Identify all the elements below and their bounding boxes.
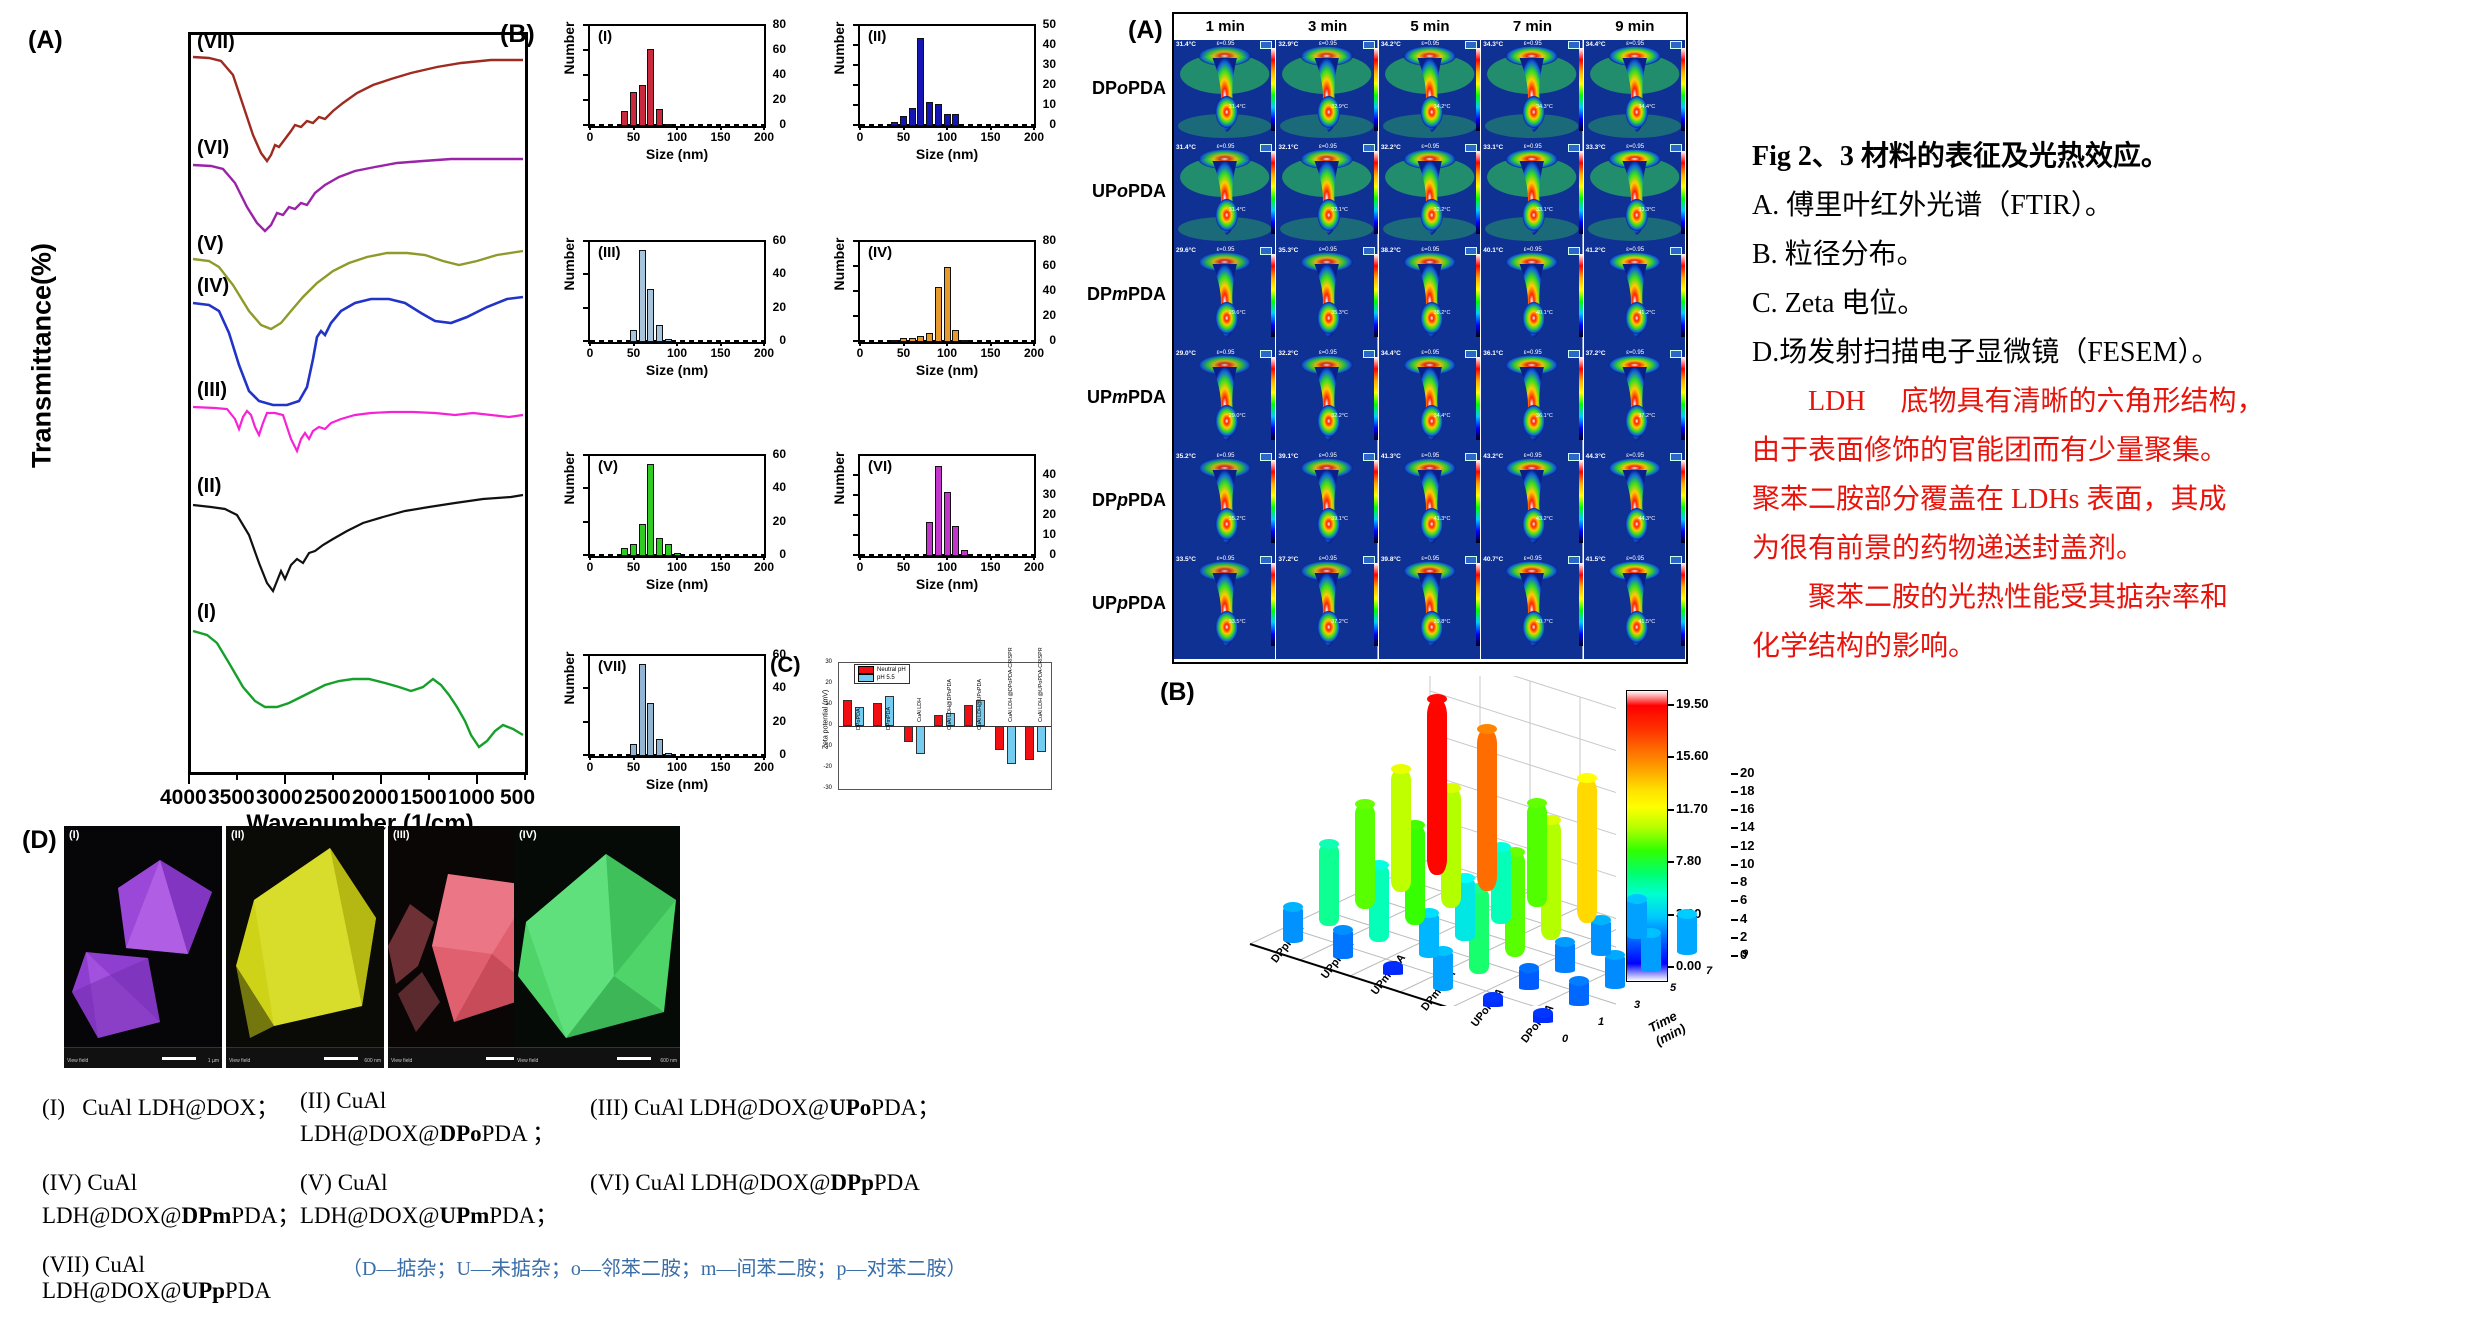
hist-xtick: 100 [667, 130, 687, 144]
thermal-spot-reading: 39.1°C [1331, 516, 1348, 522]
hist-x-axis-label: Size (nm) [588, 146, 766, 162]
b3d-ztick-mark [1731, 791, 1738, 793]
thermal-scale-strip [1271, 563, 1275, 646]
hist-x-axis-label: Size (nm) [588, 576, 766, 592]
hist-bar [909, 338, 916, 342]
thermal-max-temp: 36.1°C [1483, 350, 1503, 357]
thermal-scale-strip [1681, 563, 1685, 646]
thermal-cell: 32.2°Cε=0.9532.2°C [1379, 143, 1481, 247]
thermal-col-3min: 3 min [1276, 14, 1378, 40]
hist-xtick: 50 [627, 760, 640, 774]
b3d-cylinder-bar [1355, 804, 1375, 910]
hist-bar [926, 333, 933, 342]
legend-bold-vi: DPp [830, 1170, 873, 1195]
thermal-spot-reading: 34.4°C [1434, 413, 1451, 419]
thermal-emissivity: ε=0.95 [1217, 556, 1235, 562]
hist-xtick-mark [589, 342, 591, 346]
thermal-ir-image [1379, 452, 1480, 556]
hist-bars [590, 26, 764, 126]
thermal-max-temp: 31.4°C [1176, 144, 1196, 151]
thermal-panel-tag: (A) [1128, 16, 1163, 45]
thermal-scale-strip [1374, 254, 1378, 337]
legend-item-i: (I) CuAl LDH@DOX； [42, 1088, 300, 1148]
thermal-cell: 34.3°Cε=0.9534.3°C [1481, 40, 1583, 144]
hist-xtick-mark [633, 126, 635, 130]
hist-ytick-mark [853, 514, 858, 516]
b3d-cylinder-bar [1555, 942, 1575, 974]
thermal-max-temp: 37.2°C [1586, 350, 1606, 357]
thermal-emissivity: ε=0.95 [1217, 350, 1235, 356]
fesem-scalebar-i: View field 1 µm [64, 1047, 222, 1068]
fesem-meta-iv: View field [517, 1058, 538, 1064]
b3d-cylinder-bar [1677, 914, 1697, 956]
thermal-scale-strip [1271, 357, 1275, 440]
hist-bar [935, 466, 942, 556]
hist-bar [630, 92, 637, 126]
hist-ytick-mark [583, 454, 588, 456]
thermal-scale-strip [1271, 254, 1275, 337]
thermal-cell: 41.5°Cε=0.9541.5°C [1584, 555, 1686, 659]
b3d-cylinder-bar [1283, 907, 1303, 943]
thermal-row: 33.5°Cε=0.9533.5°C37.2°Cε=0.9537.2°C39.8… [1174, 555, 1686, 659]
fesem-scale-i: 1 µm [208, 1058, 219, 1064]
hist-ytick-mark [583, 24, 588, 26]
zeta-ytick: -10 [810, 743, 832, 749]
hist-ytick-mark [853, 104, 858, 106]
thermal-emissivity: ε=0.95 [1217, 247, 1235, 253]
b3d-ztick: 8 [1740, 874, 1747, 889]
panel-c-tag: (C) [770, 652, 801, 678]
hist-xtick: 150 [710, 130, 730, 144]
panel-b-photothermal-3d: (B) 02468101214161820DPpPDAUPpPDAUPmPDAD… [1160, 666, 1700, 1056]
hist-bar [674, 553, 681, 556]
hist-ytick-mark [583, 273, 588, 275]
b3d-ztick-mark [1731, 882, 1738, 884]
thermal-cell: 32.1°Cε=0.9532.1°C [1276, 143, 1378, 247]
ftir-xtick-2500: 2500 [304, 786, 351, 810]
hist-xtick-mark [903, 342, 905, 346]
legend-bold-iv: DPm [181, 1203, 231, 1228]
hist-xtick: 0 [857, 130, 864, 144]
thermal-max-temp: 38.2°C [1381, 247, 1401, 254]
legend-bold-vii: UPp [181, 1278, 224, 1303]
hist-xtick-mark [633, 556, 635, 560]
hist-xtick: 0 [587, 130, 594, 144]
hist-ytick-mark [853, 240, 858, 242]
thermal-cell: 35.2°Cε=0.9535.2°C [1174, 452, 1276, 556]
hist-bars [860, 242, 1034, 342]
hist-bar [891, 122, 898, 126]
hist-x-axis-label: Size (nm) [588, 362, 766, 378]
b3d-cylinder-bar [1627, 899, 1647, 939]
b3d-cylinder-bar [1527, 803, 1547, 908]
fesem-image-i: (I) View field 1 µm [64, 826, 222, 1068]
b3d-time-tick: 3 [1634, 999, 1640, 1011]
hist-ytick-mark [853, 265, 858, 267]
hist-xtick-mark [946, 126, 948, 130]
colorbar-tick-mark [1667, 756, 1674, 758]
thermal-column-headers: 1 min 3 min 5 min 7 min 9 min [1174, 14, 1686, 40]
thermal-ir-image [1481, 452, 1582, 556]
hist-bar [656, 538, 663, 556]
thermal-cell: 29.6°Cε=0.9529.6°C [1174, 246, 1276, 350]
ftir-xtick-2000: 2000 [352, 786, 399, 810]
thermal-cell: 35.3°Cε=0.9535.3°C [1276, 246, 1378, 350]
thermal-max-temp: 29.0°C [1176, 350, 1196, 357]
thermal-ir-image [1584, 246, 1685, 350]
thermal-max-temp: 44.3°C [1586, 453, 1606, 460]
hist-y-axis-label: Number [561, 3, 577, 93]
legend-base-iii: CuAl LDH@DOX@ [634, 1095, 829, 1120]
thermal-scale-strip [1476, 254, 1480, 337]
legend-abbrev-note: （D—掂杂；U—未掂杂；o—邻苯二胺；m—间苯二胺；p—对苯二胺） [342, 1252, 966, 1304]
hist-xtick: 200 [754, 560, 774, 574]
legend-num-ii: (II) [300, 1088, 331, 1113]
thermal-max-temp: 31.4°C [1176, 41, 1196, 48]
thermal-cell: 31.4°Cε=0.9531.4°C [1174, 143, 1276, 247]
thermal-max-temp: 43.2°C [1483, 453, 1503, 460]
thermal-emissivity: ε=0.95 [1626, 556, 1644, 562]
thermal-spot-reading: 41.5°C [1638, 619, 1655, 625]
hist-x-axis-label: Size (nm) [588, 776, 766, 792]
hist-bar [952, 114, 959, 126]
zeta-category-label: CuAl LDH [917, 698, 923, 722]
fesem-label-i: (I) [69, 829, 79, 841]
thermal-scale-strip [1271, 151, 1275, 234]
thermal-col-5min: 5 min [1379, 14, 1481, 40]
hist-ytick-mark [583, 49, 588, 51]
hist-xtick-mark [903, 126, 905, 130]
thermal-cell: 31.4°Cε=0.9531.4°C [1174, 40, 1276, 144]
ftir-plot-area: (VII) (VI) (V) (IV) (III) (II) (I) [188, 32, 528, 772]
hist-xtick-mark [903, 556, 905, 560]
thermal-spot-reading: 36.1°C [1536, 413, 1553, 419]
hist-xtick: 0 [857, 346, 864, 360]
zeta-bar [1037, 726, 1046, 752]
thermal-cell: 37.2°Cε=0.9537.2°C [1276, 555, 1378, 659]
zeta-ytick: 20 [810, 680, 832, 686]
thermal-cell: 34.4°Cε=0.9534.4°C [1379, 349, 1481, 453]
hist-ytick-mark [853, 554, 858, 556]
ftir-xtick-1000: 1000 [448, 786, 495, 810]
thermal-ir-image [1174, 143, 1275, 247]
thermal-emissivity: ε=0.95 [1421, 144, 1439, 150]
hist-bar [900, 116, 907, 126]
hist-bars [590, 456, 764, 556]
hist-xtick-mark [589, 556, 591, 560]
hist-bar [909, 108, 916, 126]
commentary-red-2b: 化学结构的影响。 [1752, 622, 2452, 671]
thermal-scale-strip [1476, 460, 1480, 543]
hist-xtick-mark [1033, 556, 1035, 560]
thermal-max-temp: 41.3°C [1381, 453, 1401, 460]
hist-ytick-mark [853, 24, 858, 26]
thermal-cell: 39.8°Cε=0.9539.8°C [1379, 555, 1481, 659]
hist-y-axis-label: Number [561, 219, 577, 309]
ftir-xtick-4000: 4000 [160, 786, 207, 810]
thermal-row-label: UPoPDA [1092, 181, 1166, 202]
hist-bar [917, 336, 924, 342]
thermal-max-temp: 32.2°C [1381, 144, 1401, 151]
hist-xtick-mark [859, 342, 861, 346]
hist-xtick: 100 [667, 560, 687, 574]
zeta-legend-neutral: Neutral pH [877, 666, 906, 674]
hist-xtick: 50 [627, 346, 640, 360]
thermal-cell: 34.4°Cε=0.9534.4°C [1584, 40, 1686, 144]
hist-xtick: 0 [587, 560, 594, 574]
hist-xtick-mark [990, 126, 992, 130]
thermal-cell: 38.2°Cε=0.9538.2°C [1379, 246, 1481, 350]
thermal-spot-reading: 43.2°C [1536, 516, 1553, 522]
thermal-scale-strip [1579, 357, 1583, 440]
thermal-ir-image [1379, 40, 1480, 144]
b3d-cylinder-bar [1391, 769, 1411, 892]
hist-ytick-mark [583, 654, 588, 656]
hist-ytick-mark [853, 84, 858, 86]
hist-xtick-mark [589, 126, 591, 130]
hist-bar [944, 114, 951, 126]
thermal-scale-strip [1579, 254, 1583, 337]
panel-a-tag: (A) [28, 26, 63, 55]
ftir-y-axis-label: Transmittance(%) [27, 206, 58, 506]
hist-ytick-mark [853, 534, 858, 536]
thermal-ir-image [1174, 40, 1275, 144]
legend-row-1: (I) CuAl LDH@DOX； (II) CuAl LDH@DOX@DPoP… [42, 1088, 1512, 1148]
zeta-bar [1025, 726, 1034, 760]
hist-xtick: 50 [627, 130, 640, 144]
fesem-scalebar-ii: View field 600 nm [226, 1047, 384, 1068]
thermal-cell: 33.5°Cε=0.9533.5°C [1174, 555, 1276, 659]
thermal-spot-reading: 37.2°C [1331, 619, 1348, 625]
hist-bar [639, 664, 646, 756]
hist-ytick-mark [583, 687, 588, 689]
hist-xtick-mark [720, 342, 722, 346]
ftir-trace-label-iv: (IV) [197, 275, 229, 298]
commentary-red-1d: 为很有前景的药物递送封盖剂。 [1752, 524, 2452, 573]
hist-y-axis-label: Number [561, 433, 577, 523]
thermal-cell: 29.0°Cε=0.9529.0°C [1174, 349, 1276, 453]
hist-xtick: 50 [897, 560, 910, 574]
hist-bars [590, 242, 764, 342]
thermal-ir-image [1174, 246, 1275, 350]
thermal-ir-image [1584, 555, 1685, 659]
commentary-line-d: D.场发射扫描电子显微镜（FESEM）。 [1752, 328, 2452, 377]
zeta-bar [904, 726, 913, 742]
thermal-max-temp: 34.4°C [1586, 41, 1606, 48]
thermal-max-temp: 33.3°C [1586, 144, 1606, 151]
thermal-cell: 34.2°Cε=0.9534.2°C [1379, 40, 1481, 144]
histogram-v: Number(V)0204060050100150200Size (nm) [536, 442, 786, 600]
hist-bar [944, 492, 951, 556]
legend-num-v: (V) [300, 1170, 332, 1195]
zeta-bar [873, 703, 882, 726]
thermal-emissivity: ε=0.95 [1421, 247, 1439, 253]
thermal-emissivity: ε=0.95 [1421, 556, 1439, 562]
legend-bold-iii: UPo [829, 1095, 871, 1120]
commentary-line-c: C. Zeta 电位。 [1752, 279, 2452, 328]
hist-bar [926, 522, 933, 556]
hist-xtick-mark [720, 756, 722, 760]
hist-xtick: 100 [937, 346, 957, 360]
b3d-cylinder-bar [1569, 981, 1589, 1007]
commentary-title: Fig 2、3 材料的表征及光热效应。 [1752, 132, 2452, 181]
thermal-row: 29.6°Cε=0.9529.6°C35.3°Cε=0.9535.3°C38.2… [1174, 246, 1686, 350]
fesem-meta-i: View field [67, 1058, 88, 1064]
thermal-max-temp: 40.7°C [1483, 556, 1503, 563]
panel-b3d-tag: (B) [1160, 678, 1195, 707]
thermal-emissivity: ε=0.95 [1217, 453, 1235, 459]
thermal-spot-reading: 34.3°C [1536, 104, 1553, 110]
histogram-ii: Number(II)01020304050050100150200Size (n… [806, 12, 1056, 170]
commentary-line-a: A. 傅里叶红外光谱（FTIR）。 [1752, 181, 2452, 230]
zeta-ytick: 0 [810, 722, 832, 728]
hist-bar [665, 753, 672, 756]
thermal-emissivity: ε=0.95 [1319, 453, 1337, 459]
commentary-red-1b: 由于表面修饰的官能团而有少量聚集。 [1752, 426, 2452, 475]
commentary-red-1c: 聚苯二胺部分覆盖在 LDHs 表面，其成 [1752, 475, 2452, 524]
hist-xtick: 200 [1024, 560, 1044, 574]
ftir-trace-label-i: (I) [197, 601, 216, 624]
hist-xtick: 150 [710, 760, 730, 774]
thermal-scale-strip [1374, 460, 1378, 543]
thermal-spot-reading: 34.2°C [1434, 104, 1451, 110]
legend-row-3: (VII) CuAl LDH@DOX@UPpPDA （D—掂杂；U—未掂杂；o—… [42, 1252, 1512, 1304]
hist-ytick-mark [853, 44, 858, 46]
hist-bar [961, 550, 968, 556]
hist-ytick-mark [583, 754, 588, 756]
thermal-scale-strip [1271, 460, 1275, 543]
b3d-ztick: 16 [1740, 801, 1754, 816]
thermal-ir-image [1584, 143, 1685, 247]
hist-bars [590, 656, 764, 756]
zeta-bar [843, 700, 852, 726]
hist-ytick-mark [853, 124, 858, 126]
thermal-scale-strip [1374, 48, 1378, 131]
hist-bar [961, 340, 968, 343]
b3d-ztick: 18 [1740, 783, 1754, 798]
hist-xtick-mark [763, 342, 765, 346]
hist-xtick: 100 [667, 760, 687, 774]
legend-item-v: (V) CuAl LDH@DOX@UPmPDA； [300, 1170, 590, 1230]
zeta-category-label: CuAl LDH @UPoPDA-CRISPR [1038, 647, 1044, 722]
hist-xtick: 200 [754, 130, 774, 144]
thermal-scale-strip [1476, 357, 1480, 440]
hist-xtick: 200 [754, 346, 774, 360]
hist-xtick: 200 [1024, 346, 1044, 360]
thermal-spot-reading: 34.4°C [1638, 104, 1655, 110]
hist-ytick-mark [583, 99, 588, 101]
hist-ytick-mark [583, 721, 588, 723]
zeta-bar [964, 705, 973, 726]
hist-ytick-mark [853, 315, 858, 317]
thermal-emissivity: ε=0.95 [1524, 350, 1542, 356]
thermal-ir-image [1276, 452, 1377, 556]
hist-xtick-mark [763, 756, 765, 760]
hist-y-axis-label: Number [831, 3, 847, 93]
thermal-max-temp: 33.1°C [1483, 144, 1503, 151]
b3d-ztick-mark [1731, 900, 1738, 902]
hist-xtick: 50 [897, 346, 910, 360]
legend-item-iii: (III) CuAl LDH@DOX@UPoPDA； [590, 1088, 940, 1148]
thermal-spot-reading: 33.3°C [1638, 207, 1655, 213]
colorbar-tick-mark [1667, 914, 1674, 916]
thermal-max-temp: 41.2°C [1586, 247, 1606, 254]
hist-xtick: 100 [937, 560, 957, 574]
thermal-cell: 41.3°Cε=0.9541.3°C [1379, 452, 1481, 556]
thermal-spot-reading: 37.2°C [1638, 413, 1655, 419]
thermal-scale-strip [1681, 460, 1685, 543]
b3d-ztick: 2 [1740, 929, 1747, 944]
hist-bar [621, 548, 628, 556]
thermal-spot-reading: 35.2°C [1229, 516, 1246, 522]
thermal-max-temp: 39.8°C [1381, 556, 1401, 563]
histogram-iv: Number(IV)020406080050100150200Size (nm) [806, 228, 1056, 386]
thermal-ir-image [1584, 349, 1685, 453]
thermal-spot-reading: 33.5°C [1229, 619, 1246, 625]
thermal-row-label: DPoPDA [1092, 78, 1166, 99]
hist-ytick-mark [583, 124, 588, 126]
thermal-max-temp: 37.2°C [1278, 556, 1298, 563]
hist-xtick-mark [763, 126, 765, 130]
thermal-scale-strip [1579, 151, 1583, 234]
thermal-ir-image [1379, 246, 1480, 350]
histogram-vi: Number(VI)010203040050100150200Size (nm) [806, 442, 1056, 600]
hist-xtick: 100 [667, 346, 687, 360]
thermal-max-temp: 34.2°C [1381, 41, 1401, 48]
legend-tail-v: PDA； [489, 1203, 558, 1228]
b3d-ztick-mark [1731, 864, 1738, 866]
b3d-ztick-mark [1731, 919, 1738, 921]
b3d-ztick: 10 [1740, 856, 1754, 871]
thermal-spot-reading: 33.1°C [1536, 207, 1553, 213]
legend-tail-iv: PDA； [231, 1203, 300, 1228]
thermal-row-label: DPmPDA [1087, 284, 1166, 305]
thermal-spot-reading: 29.0°C [1229, 413, 1246, 419]
zeta-bar [916, 726, 925, 754]
legend-tail-ii: PDA ； [482, 1121, 556, 1146]
colorbar-tick-mark [1667, 966, 1674, 968]
ftir-trace-label-vii: (VII) [197, 31, 235, 54]
thermal-spot-reading: 32.2°C [1434, 207, 1451, 213]
hist-bar [630, 330, 637, 342]
thermal-col-1min: 1 min [1174, 14, 1276, 40]
thermal-spot-reading: 39.8°C [1434, 619, 1451, 625]
thermal-max-temp: 35.2°C [1176, 453, 1196, 460]
legend-base-i: CuAl LDH@DOX [82, 1095, 256, 1120]
thermal-cell: 40.7°Cε=0.9540.7°C [1481, 555, 1583, 659]
hist-bar [935, 287, 942, 342]
b3d-time-tick: 1 [1598, 1016, 1604, 1028]
zeta-legend: Neutral pH pH 5.5 [854, 664, 910, 684]
thermal-max-temp: 32.2°C [1278, 350, 1298, 357]
legend-tail-vii: PDA [225, 1278, 271, 1303]
thermal-cell: 33.1°Cε=0.9533.1°C [1481, 143, 1583, 247]
thermal-max-temp: 39.1°C [1278, 453, 1298, 460]
hist-bar [952, 330, 959, 343]
thermal-ir-image [1276, 246, 1377, 350]
thermal-spot-reading: 35.3°C [1331, 310, 1348, 316]
legend-item-ii: (II) CuAl LDH@DOX@DPoPDA ； [300, 1088, 590, 1148]
legend-num-vi: (VI) [590, 1170, 630, 1195]
thermal-scale-strip [1374, 563, 1378, 646]
hist-bar [630, 744, 637, 756]
thermal-spot-reading: 41.3°C [1434, 516, 1451, 522]
hist-xtick: 150 [710, 560, 730, 574]
thermal-row-label: DPpPDA [1092, 490, 1166, 511]
thermal-row-label: UPpPDA [1092, 593, 1166, 614]
zeta-ytick: -20 [810, 764, 832, 770]
thermal-ir-image [1481, 555, 1582, 659]
